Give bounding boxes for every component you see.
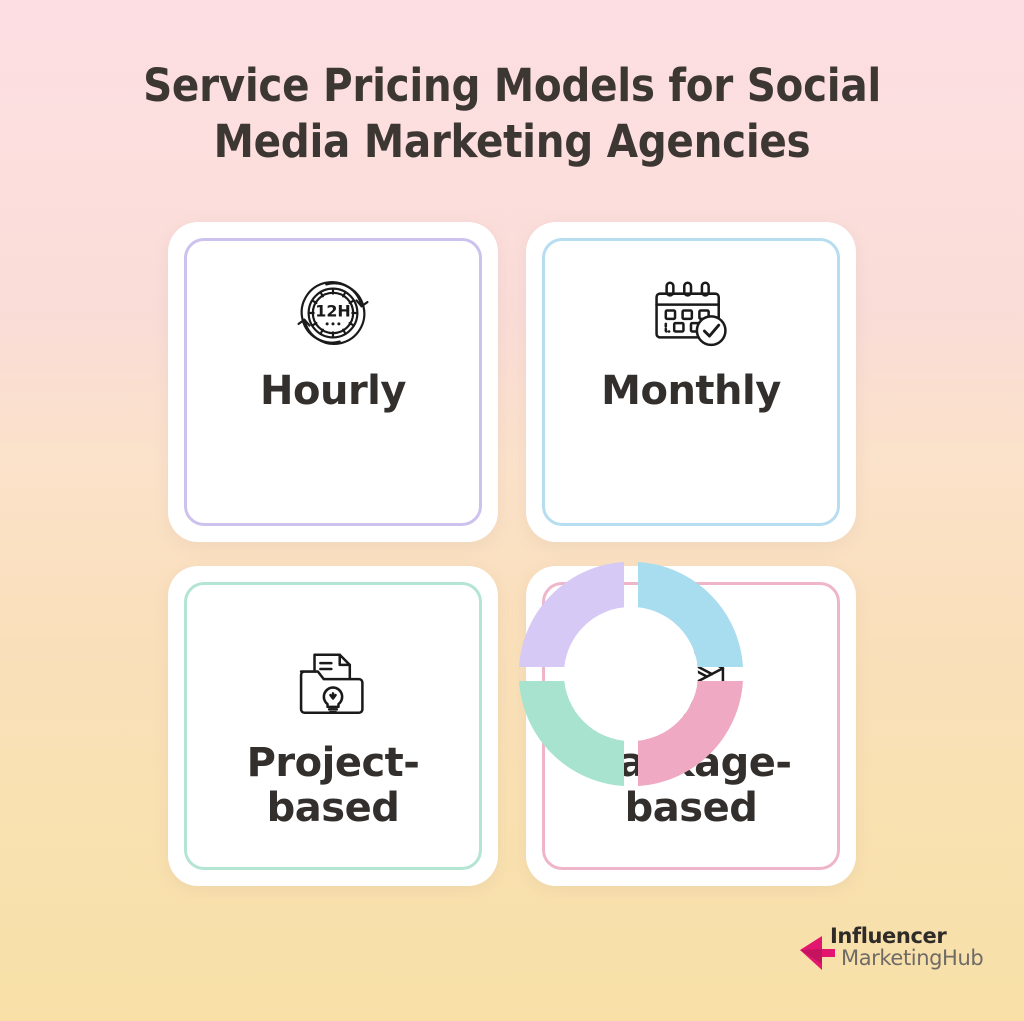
logo-text: Influencer MarketingHub — [830, 925, 983, 970]
card-project-based-label-line-2: based — [267, 785, 400, 831]
pricing-models-grid: 12H Hourly — [168, 222, 856, 886]
card-hourly-inner: 12H Hourly — [184, 238, 482, 526]
card-monthly-label: Monthly — [601, 369, 781, 414]
card-package-based[interactable]: Package-based — [526, 566, 856, 886]
card-project-based[interactable]: Project-based — [168, 566, 498, 886]
card-package-based-label: Package-based — [591, 741, 792, 831]
clock-12h-icon: 12H — [291, 271, 375, 355]
card-hourly-label: Hourly — [260, 369, 406, 414]
card-hourly[interactable]: 12H Hourly — [168, 222, 498, 542]
card-monthly[interactable]: Monthly — [526, 222, 856, 542]
logo-line-influencer: Influencer — [830, 925, 983, 947]
folder-lightbulb-icon — [291, 643, 375, 727]
page-title-line-2: Media Marketing Agencies — [70, 114, 954, 170]
card-project-based-label: Project-based — [247, 741, 420, 831]
page-title-line-1: Service Pricing Models for Social — [70, 58, 954, 114]
card-monthly-inner: Monthly — [542, 238, 840, 526]
svg-text:12H: 12H — [315, 301, 351, 320]
card-project-based-label-line-1: Project- — [247, 740, 420, 786]
package-box-icon — [649, 643, 733, 727]
card-package-based-label-line-1: Package- — [591, 740, 792, 786]
influencer-marketing-hub-logo[interactable]: Influencer MarketingHub — [798, 925, 978, 983]
page-title: Service Pricing Models for Social Media … — [0, 58, 1024, 171]
calendar-check-icon — [649, 271, 733, 355]
card-project-based-inner: Project-based — [184, 582, 482, 870]
card-package-based-inner: Package-based — [542, 582, 840, 870]
logo-line-marketinghub: MarketingHub — [841, 947, 983, 970]
card-package-based-label-line-2: based — [625, 785, 758, 831]
